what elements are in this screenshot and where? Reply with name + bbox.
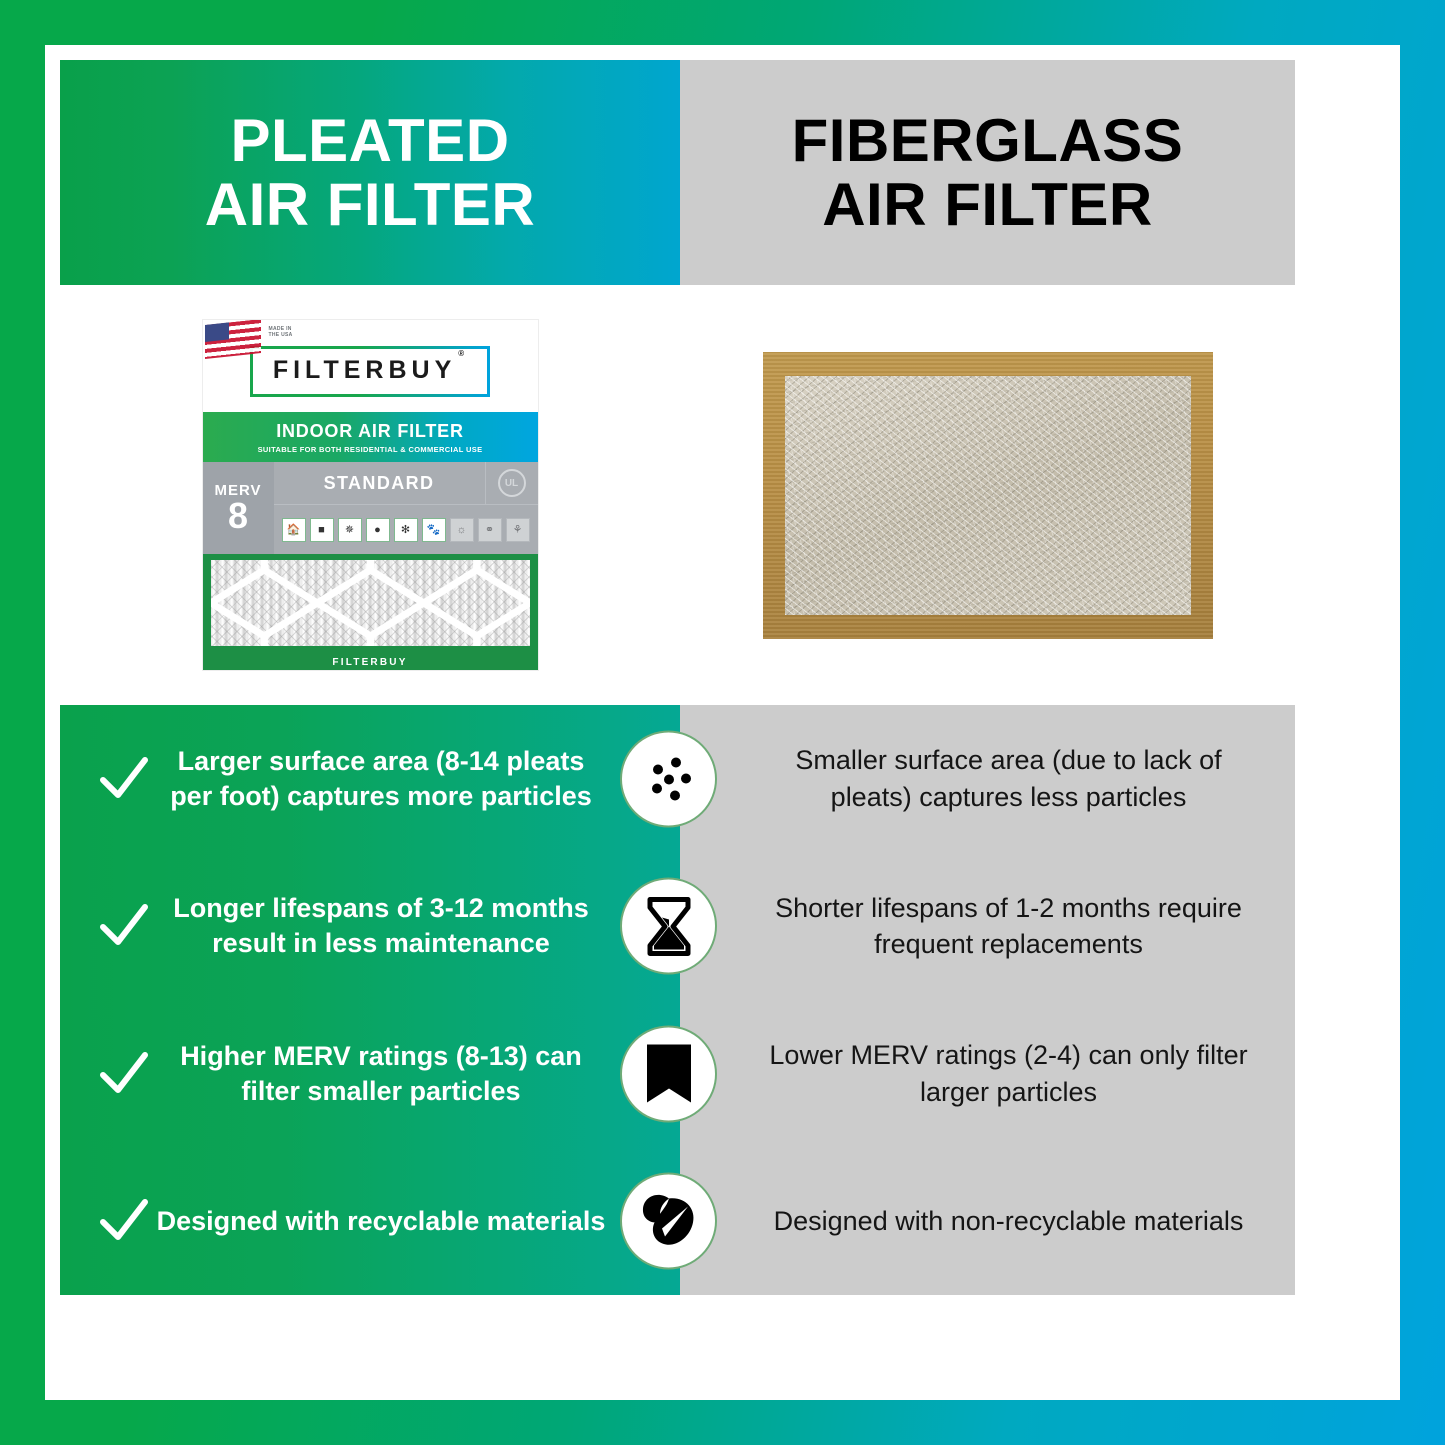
pleated-benefit-cell: Longer lifespans of 3-12 months result i… [60, 853, 680, 1001]
merv-value: 8 [228, 499, 248, 533]
indoor-air-filter-label: INDOOR AIR FILTER [276, 421, 464, 442]
pleated-benefit-text: Longer lifespans of 3-12 months result i… [154, 891, 680, 961]
check-icon [94, 752, 154, 806]
ul-badge-wrap: UL [485, 462, 538, 504]
made-in-line2: THE USA [269, 332, 293, 338]
infographic-root: PLEATED AIR FILTER FIBERGLASS AIR FILTER… [0, 0, 1445, 1445]
package-spec-right: STANDARD UL 🏠 ■ ✵ ● ✻ 🐾 ☼ [274, 462, 538, 554]
pleat-support-grid [211, 560, 530, 646]
fiberglass-drawback-cell: Lower MERV ratings (2-4) can only filter… [680, 1000, 1295, 1148]
package-bottom-brand: FILTERBUY [203, 657, 538, 668]
comparison-row: Larger surface area (8-14 pleats per foo… [60, 705, 1295, 853]
pet-dander-icon: ✻ [394, 518, 418, 542]
virus-icon: ⚘ [506, 518, 530, 542]
check-icon [94, 1047, 154, 1101]
smoke-icon: ☼ [450, 518, 474, 542]
header-band: PLEATED AIR FILTER FIBERGLASS AIR FILTER [60, 60, 1295, 285]
fiberglass-product-cell [680, 285, 1295, 705]
brand-name: FILTERBUY [273, 356, 456, 384]
brand-logo-text: FILTERBUY® [273, 356, 467, 385]
fiberglass-drawback-text: Lower MERV ratings (2-4) can only filter… [766, 1037, 1251, 1110]
trademark-symbol: ® [458, 349, 469, 358]
pleated-benefit-cell: Designed with recyclable materials [60, 1148, 680, 1296]
package-spec-area: MERV 8 STANDARD UL 🏠 ■ ✵ [203, 462, 538, 554]
header-pleated-line2: AIR FILTER [205, 173, 536, 237]
bacteria-icon: ⚭ [478, 518, 502, 542]
pleated-benefit-text: Higher MERV ratings (8-13) can filter sm… [154, 1039, 680, 1109]
fiberglass-filter-photo [763, 352, 1213, 639]
fiberglass-drawback-text: Smaller surface area (due to lack of ple… [766, 742, 1251, 815]
comparison-row: Higher MERV ratings (8-13) can filter sm… [60, 1000, 1295, 1148]
comparison-row: Longer lifespans of 3-12 months result i… [60, 853, 1295, 1001]
merv-badge: MERV 8 [203, 462, 274, 554]
pleat-media [211, 560, 530, 646]
brand-logo-frame: FILTERBUY® [250, 346, 490, 397]
capability-icon-row: 🏠 ■ ✵ ● ✻ 🐾 ☼ ⚭ ⚘ [274, 505, 538, 554]
pleated-filter-package: MADE IN THE USA FILTERBUY® INDOOR AIR FI… [203, 320, 538, 670]
fiberglass-media [785, 376, 1191, 615]
header-pleated-panel: PLEATED AIR FILTER [60, 60, 680, 285]
pet-hair-icon: 🐾 [422, 518, 446, 542]
fiberglass-drawback-cell: Smaller surface area (due to lack of ple… [680, 705, 1295, 853]
check-icon [94, 1194, 154, 1248]
suitable-use-label: SUITABLE FOR BOTH RESIDENTIAL & COMMERCI… [258, 445, 483, 454]
header-fiberglass-line1: FIBERGLASS [792, 107, 1184, 174]
check-icon [94, 899, 154, 953]
header-pleated-line1: PLEATED [230, 107, 509, 174]
mold-spores-icon: ● [366, 518, 390, 542]
pleated-benefit-cell: Higher MERV ratings (8-13) can filter sm… [60, 1000, 680, 1148]
pleated-media-window: FILTERBUY [203, 554, 538, 670]
header-fiberglass-panel: FIBERGLASS AIR FILTER [680, 60, 1295, 285]
comparison-table: Larger surface area (8-14 pleats per foo… [60, 705, 1295, 1295]
pleated-benefit-text: Larger surface area (8-14 pleats per foo… [154, 744, 680, 814]
pleated-benefit-text: Designed with recyclable materials [154, 1204, 680, 1239]
hourglass-icon [620, 878, 717, 975]
pollen-icon: ✵ [338, 518, 362, 542]
dust-lint-icon: 🏠 [282, 518, 306, 542]
fiberglass-drawback-text: Designed with non-recyclable materials [766, 1203, 1251, 1239]
product-image-row: MADE IN THE USA FILTERBUY® INDOOR AIR FI… [60, 285, 1295, 705]
package-top: MADE IN THE USA FILTERBUY® [203, 320, 538, 412]
dust-mites-icon: ■ [310, 518, 334, 542]
made-in-usa-label: MADE IN THE USA [269, 326, 293, 339]
header-fiberglass-title: FIBERGLASS AIR FILTER [792, 109, 1184, 236]
fiberglass-drawback-cell: Designed with non-recyclable materials [680, 1148, 1295, 1296]
bookmark-icon [620, 1025, 717, 1122]
particles-icon [620, 730, 717, 827]
fiberglass-drawback-text: Shorter lifespans of 1-2 months require … [766, 890, 1251, 963]
fiberglass-drawback-cell: Shorter lifespans of 1-2 months require … [680, 853, 1295, 1001]
pleated-benefit-cell: Larger surface area (8-14 pleats per foo… [60, 705, 680, 853]
grade-row: STANDARD UL [274, 462, 538, 505]
grade-label: STANDARD [274, 473, 485, 494]
ul-badge-icon: UL [498, 469, 526, 497]
package-indoor-band: INDOOR AIR FILTER SUITABLE FOR BOTH RESI… [203, 412, 538, 462]
header-fiberglass-line2: AIR FILTER [792, 173, 1184, 237]
comparison-row: Designed with recyclable materials Desig… [60, 1148, 1295, 1296]
leaf-icon [620, 1173, 717, 1270]
fiberglass-fiber-texture [785, 376, 1191, 615]
pleated-product-cell: MADE IN THE USA FILTERBUY® INDOOR AIR FI… [60, 285, 680, 705]
header-pleated-title: PLEATED AIR FILTER [205, 109, 536, 236]
usa-flag-icon [205, 320, 261, 359]
